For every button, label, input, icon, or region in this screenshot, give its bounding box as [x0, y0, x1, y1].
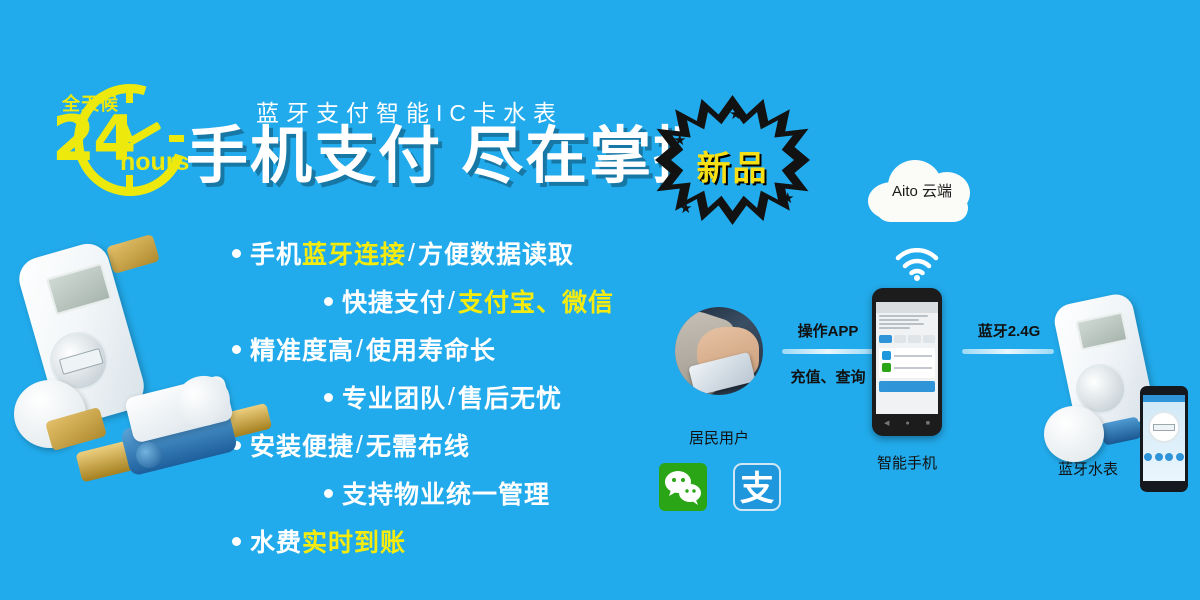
badge-hours-label: hours: [120, 148, 189, 177]
flow-label-app: 操作APP: [775, 320, 881, 341]
feature-list: 手机 蓝牙连接 / 方便数据读取 快捷支付 / 支付宝、微信 精准度高 / 使用…: [232, 235, 692, 571]
bullet-pre: 支持物业统一管理: [342, 475, 550, 511]
wechat-icon: [882, 363, 891, 372]
star-icon: ★: [781, 189, 794, 207]
app-chip-row: [876, 333, 938, 345]
meter-cap: [1044, 406, 1104, 462]
option-label: [894, 367, 932, 369]
24-hours-badge: 全天候 24 hours: [52, 82, 202, 200]
bullet-post: 方便数据读取: [418, 235, 574, 271]
bullet-separator: /: [354, 335, 366, 364]
app-header: [876, 302, 938, 313]
bullet-separator: /: [406, 239, 418, 268]
option-label: [894, 355, 932, 357]
bullet-pre: 手机: [250, 235, 302, 271]
app-title-bar: [1143, 395, 1185, 402]
star-icon: ★: [729, 105, 742, 123]
payment-option-alipay[interactable]: [882, 351, 932, 360]
clock-tick-bottom: [126, 175, 133, 190]
phone-label: 智能手机: [845, 452, 969, 473]
bullet-separator: /: [354, 431, 366, 460]
confirm-payment-button[interactable]: [879, 381, 935, 392]
bullet-highlight: 蓝牙连接: [302, 235, 406, 271]
new-product-badge: ★ ★ ★ ★ 新品: [655, 95, 810, 225]
meter-reading-app-phone: [1140, 386, 1188, 492]
list-item: 支持物业统一管理: [232, 475, 692, 511]
mini-phone-screen: [1143, 395, 1185, 481]
bullet-separator: /: [446, 383, 458, 412]
smartphone-mockup: ◀ ● ■: [872, 288, 942, 436]
payment-option-wechat[interactable]: [882, 363, 932, 372]
connector-line: [782, 349, 874, 354]
app-chip[interactable]: [908, 335, 921, 343]
promo-banner: 全天候 24 hours 蓝牙支付智能IC卡水表 手机支付 尽在掌握 ★ ★ ★…: [0, 0, 1200, 600]
app-chip[interactable]: [894, 335, 907, 343]
app-info-block: [876, 313, 938, 333]
bullet-dot-icon: [232, 249, 241, 258]
bullet-highlight: 支付宝、微信: [458, 283, 614, 319]
list-item: 手机 蓝牙连接 / 方便数据读取: [232, 235, 692, 271]
app-icon[interactable]: [1155, 453, 1163, 461]
list-item: 快捷支付 / 支付宝、微信: [232, 283, 692, 319]
phone-nav-bar: ◀ ● ■: [876, 416, 938, 430]
bullet-post: 无需布线: [366, 427, 470, 463]
meter-digits: [1153, 424, 1175, 431]
clock-tick-top: [126, 88, 133, 103]
hand-holding-phone-photo: [675, 307, 763, 395]
bullet-dot-icon: [232, 537, 241, 546]
bullet-post: 使用寿命长: [366, 331, 496, 367]
home-icon[interactable]: ●: [905, 420, 909, 427]
app-icon-row: [1143, 453, 1185, 461]
phone-screen: [876, 302, 938, 414]
bullet-pre: 精准度高: [250, 331, 354, 367]
list-item: 专业团队 / 售后无忧: [232, 379, 692, 415]
bullet-dot-icon: [324, 489, 333, 498]
list-item: 安装便捷 / 无需布线: [232, 427, 692, 463]
new-product-label: 新品: [655, 141, 810, 190]
info-line: [879, 315, 928, 317]
list-item: 精准度高 / 使用寿命长: [232, 331, 692, 367]
app-icon[interactable]: [1165, 453, 1173, 461]
valve-control-water-meter: [78, 380, 268, 510]
app-chip[interactable]: [879, 335, 892, 343]
user-label: 居民用户: [655, 427, 783, 448]
info-line: [879, 327, 910, 329]
alipay-glyph: 支: [735, 467, 779, 511]
clock-tick-right: [169, 135, 184, 142]
bullet-separator: /: [446, 287, 458, 316]
list-item: 水费 实时到账: [232, 523, 692, 559]
app-chip[interactable]: [923, 335, 936, 343]
bullet-highlight: 实时到账: [302, 523, 406, 559]
star-icon: ★: [679, 199, 692, 217]
cloud-label: Aito 云端: [862, 180, 982, 201]
wechat-pay-icon: [659, 463, 707, 511]
meter-gauge-graphic: [1148, 411, 1180, 443]
bullet-dot-icon: [324, 393, 333, 402]
bullet-post: 售后无忧: [458, 379, 562, 415]
meter-dial-face: [59, 348, 104, 375]
banner-title: 手机支付 尽在掌握: [186, 124, 717, 189]
app-icon[interactable]: [1176, 453, 1184, 461]
back-icon[interactable]: ◀: [884, 419, 889, 427]
recent-icon[interactable]: ■: [926, 420, 930, 427]
bullet-pre: 快捷支付: [342, 283, 446, 319]
bullet-pre: 水费: [250, 523, 302, 559]
flow-label-payment: 充值、查询: [770, 366, 886, 387]
bullet-dot-icon: [232, 345, 241, 354]
wifi-icon: [894, 248, 940, 282]
app-icon[interactable]: [1144, 453, 1152, 461]
info-line: [879, 323, 924, 325]
alipay-icon: 支: [733, 463, 781, 511]
alipay-icon: [882, 351, 891, 360]
meter-label: 蓝牙水表: [1025, 458, 1151, 479]
cloud-graphic: Aito 云端: [862, 158, 982, 224]
brass-fitting-top: [106, 234, 160, 274]
bullet-dot-icon: [324, 297, 333, 306]
info-line: [879, 319, 919, 321]
payment-option-card: [879, 348, 935, 378]
bullet-pre: 专业团队: [342, 379, 446, 415]
